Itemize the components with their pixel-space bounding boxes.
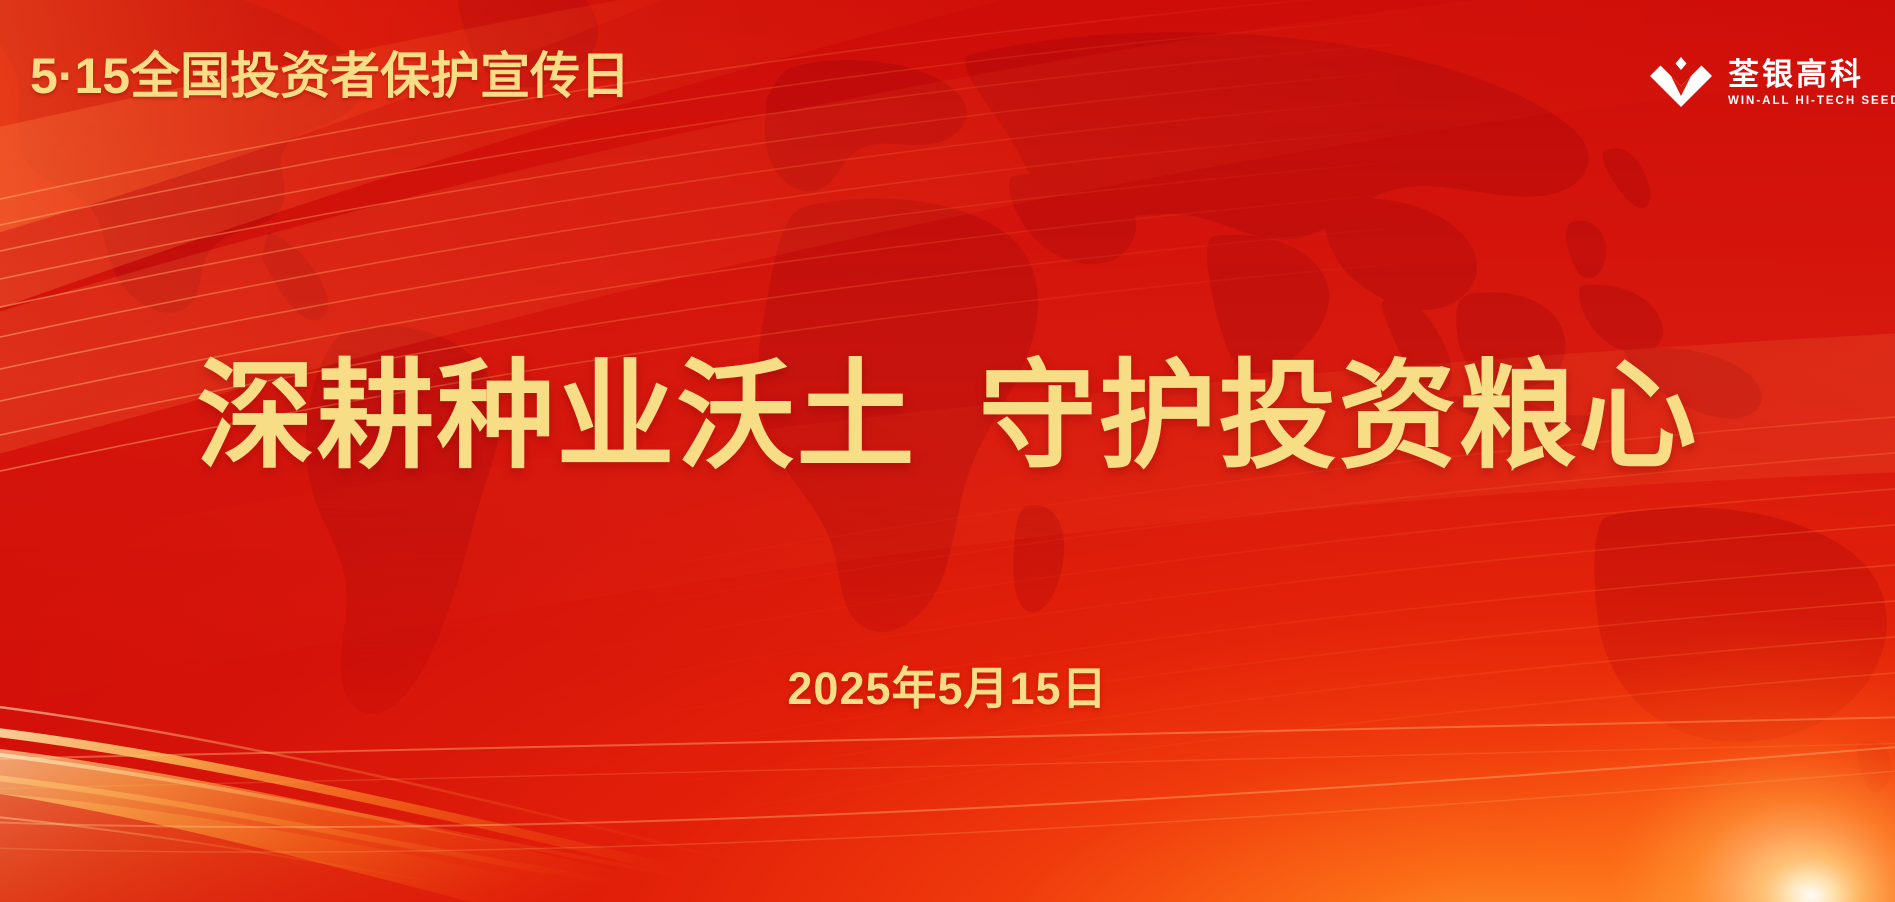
banner-content: 5·15全国投资者保护宣传日 深耕种业沃土守护投资粮心 2025年5月15日 荃… — [0, 0, 1895, 902]
page-title: 深耕种业沃土守护投资粮心 — [0, 348, 1895, 487]
event-date: 2025年5月15日 — [0, 652, 1895, 717]
headline-part-2: 守护投资粮心 — [979, 351, 1699, 483]
campaign-kicker: 5·15全国投资者保护宣传日 — [30, 50, 630, 103]
logo-company-name-en: WIN-ALL HI-TECH SEED — [1728, 95, 1895, 108]
logo-company-name-cn: 荃银高科 — [1728, 59, 1895, 92]
logo-text-block: 荃银高科 WIN-ALL HI-TECH SEED — [1728, 59, 1895, 108]
company-logo: 荃银高科 WIN-ALL HI-TECH SEED — [1650, 52, 1895, 114]
headline-part-1: 深耕种业沃土 — [196, 351, 916, 483]
win-all-chevron-icon — [1650, 54, 1712, 112]
banner-poster: 5·15全国投资者保护宣传日 深耕种业沃土守护投资粮心 2025年5月15日 荃… — [0, 0, 1895, 902]
